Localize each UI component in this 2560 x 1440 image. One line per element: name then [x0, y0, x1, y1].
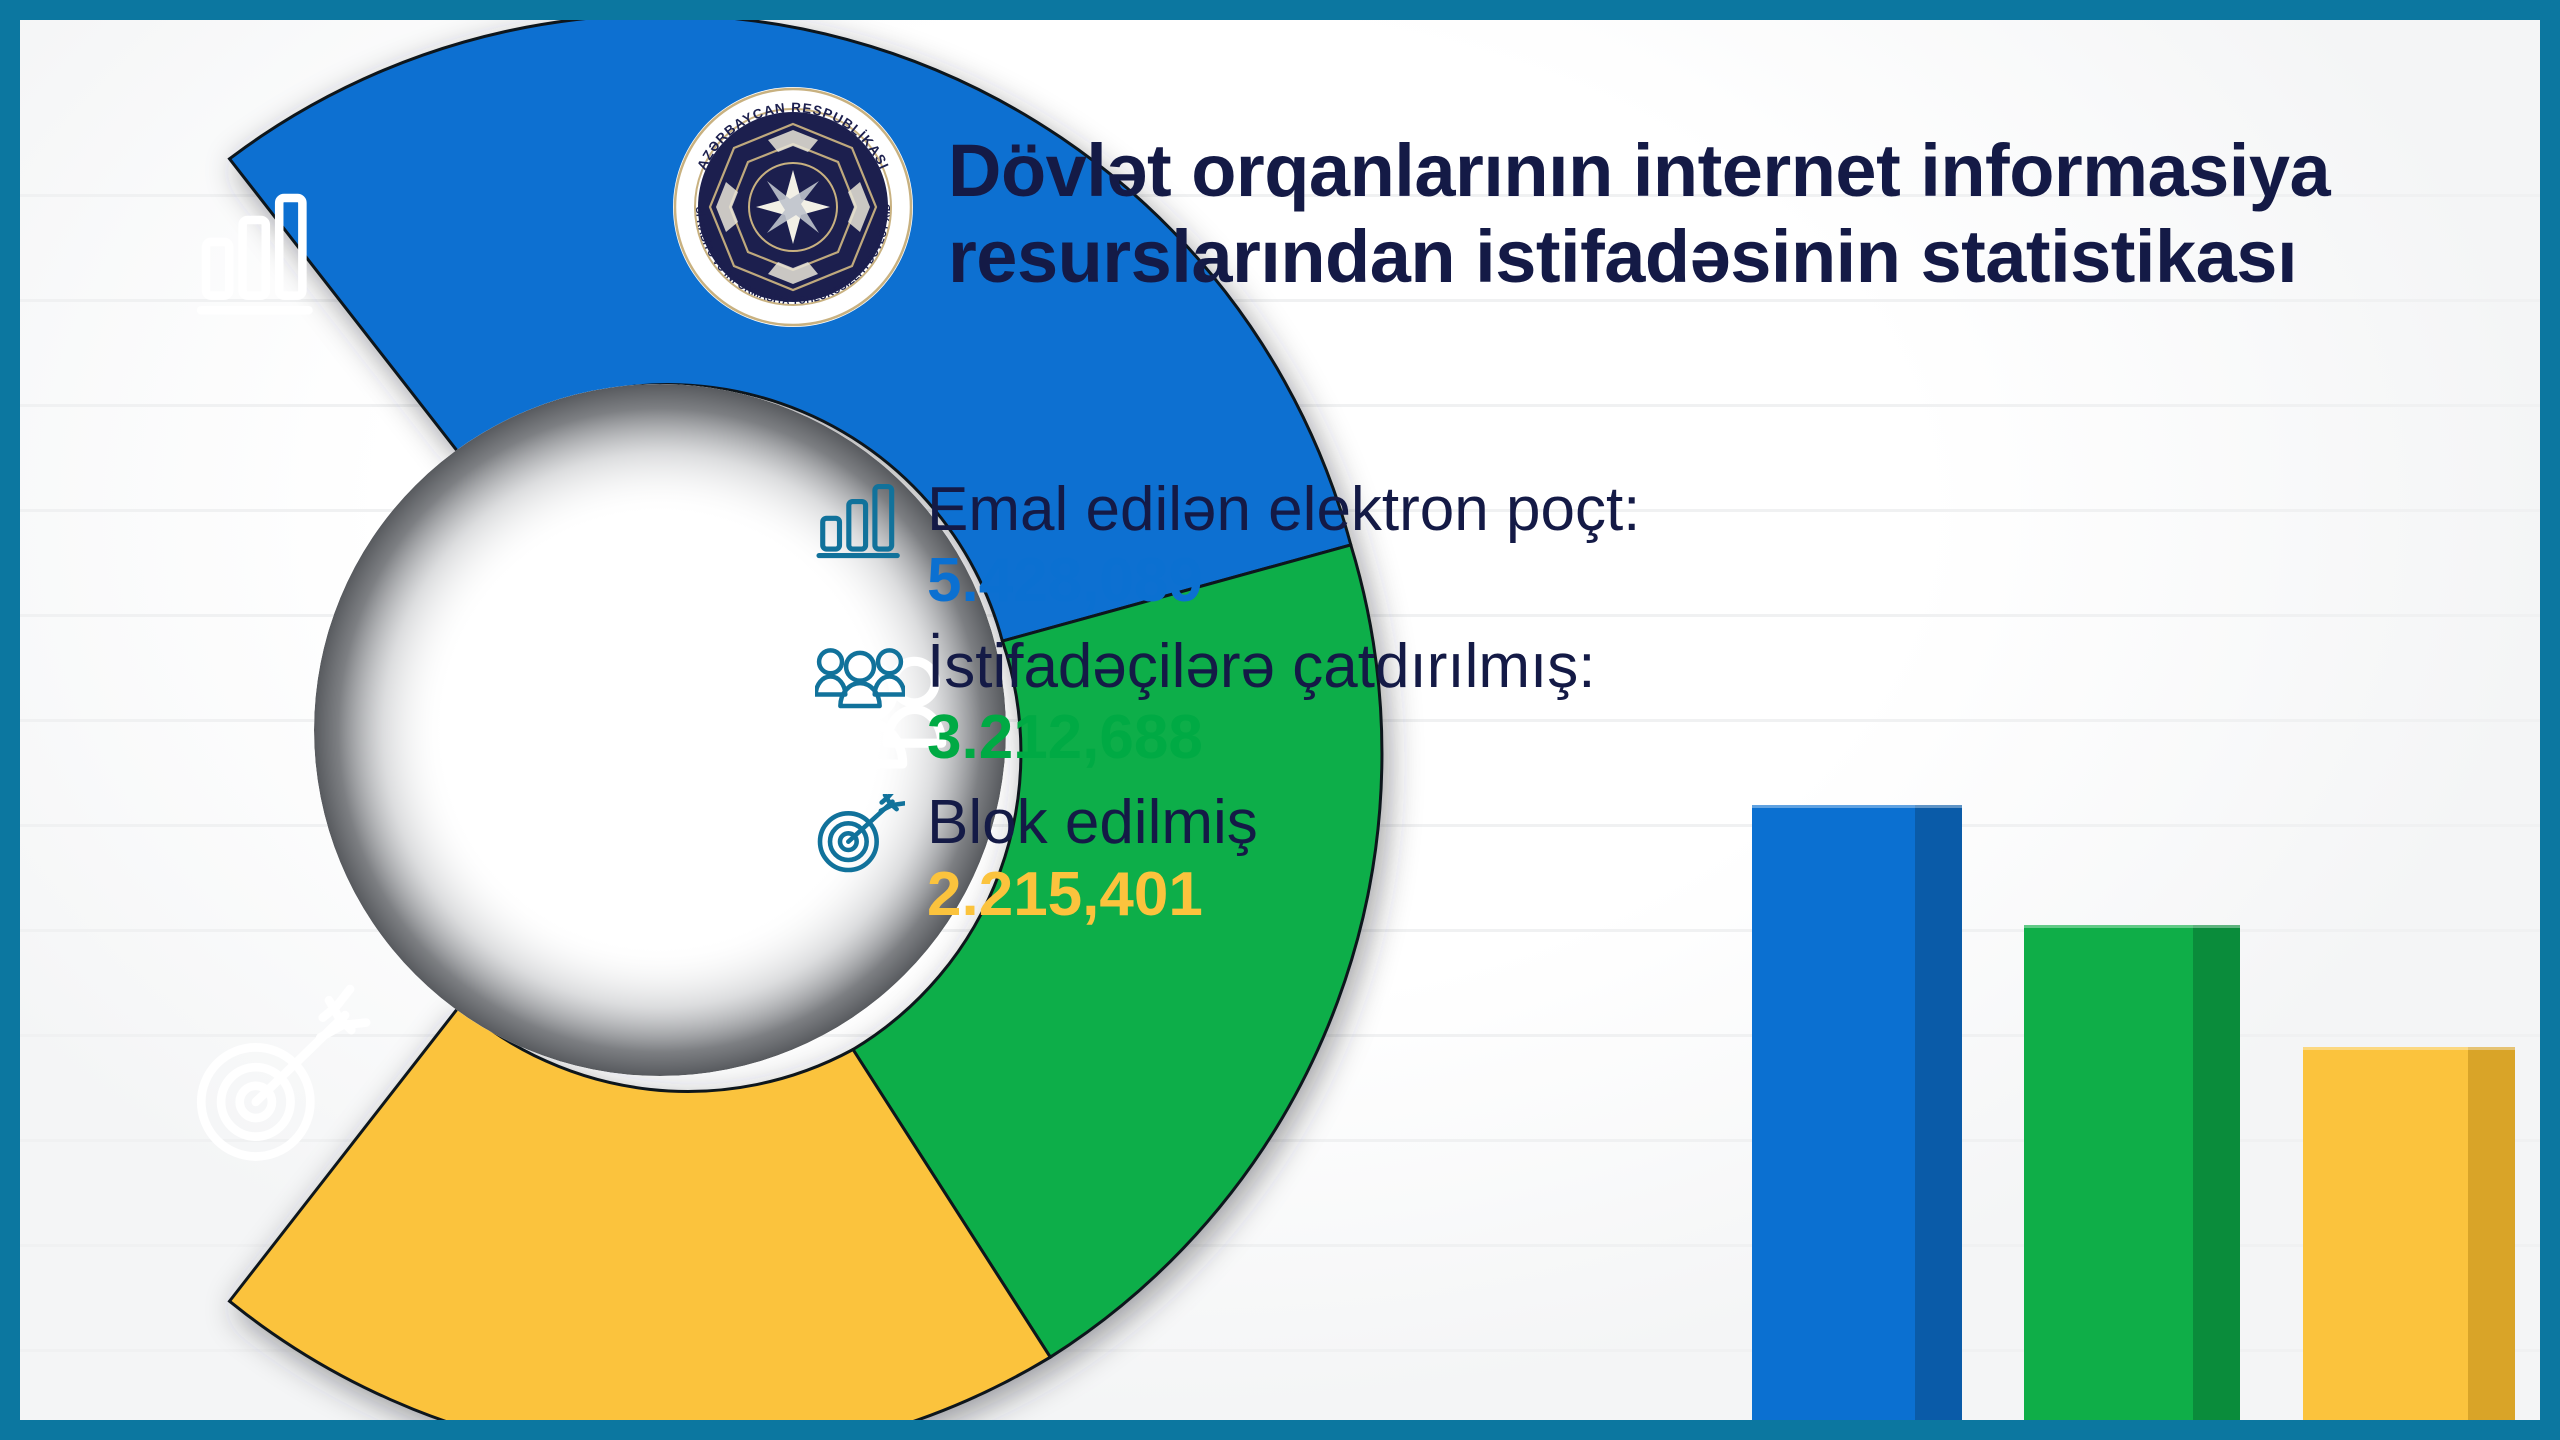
gridline	[20, 404, 2540, 407]
stat-value: 3.212,688	[927, 701, 1915, 774]
stat-text-block: İstifadəçilərə çatdırılmış: 3.212,688	[927, 632, 1915, 775]
bar-side	[2468, 1047, 2515, 1420]
bar-top-highlight	[2024, 925, 2240, 928]
stat-label: Blok edilmiş	[927, 788, 1915, 857]
gridline	[20, 1244, 2540, 1247]
bar-face	[2024, 925, 2193, 1420]
gridline	[20, 1034, 2540, 1037]
target-arrow-icon	[815, 794, 905, 876]
statistics-list: Emal edilən elektron poçt: 5.428,089	[815, 475, 1915, 945]
donut-bar-chart-icon	[201, 198, 308, 310]
stat-text-block: Emal edilən elektron poçt: 5.428,089	[927, 475, 1915, 618]
bar-chart-icon	[815, 481, 905, 563]
infographic-canvas: AZƏRBAYCAN RESPUBLİKASI XÜSUSİ RABİTƏ VƏ…	[20, 20, 2540, 1420]
stat-value: 2.215,401	[927, 858, 1915, 931]
title-line-1: Dövlət orqanlarının internet informasiya	[948, 128, 2448, 214]
bar-face	[2303, 1047, 2468, 1420]
stat-label: İstifadəçilərə çatdırılmış:	[927, 632, 1915, 701]
bar-side	[2193, 925, 2240, 1420]
organization-logo: AZƏRBAYCAN RESPUBLİKASI XÜSUSİ RABİTƏ VƏ…	[668, 82, 918, 332]
bar-blocked	[2303, 1047, 2515, 1420]
bar-delivered-users	[2024, 925, 2240, 1420]
stat-item-blocked: Blok edilmiş 2.215,401	[815, 788, 1915, 931]
donut-segment-blocked	[230, 1006, 1051, 1420]
bar-top-highlight	[2303, 1047, 2515, 1050]
stat-item-delivered-users: İstifadəçilərə çatdırılmış: 3.212,688	[815, 632, 1915, 775]
users-group-icon	[815, 638, 905, 720]
stat-text-block: Blok edilmiş 2.215,401	[927, 788, 1915, 931]
stat-label: Emal edilən elektron poçt:	[927, 475, 1915, 544]
bar-side	[1915, 805, 1962, 1420]
gridline	[20, 1139, 2540, 1142]
stat-item-email-processed: Emal edilən elektron poçt: 5.428,089	[815, 475, 1915, 618]
stat-value: 5.428,089	[927, 544, 1915, 617]
outer-frame: AZƏRBAYCAN RESPUBLİKASI XÜSUSİ RABİTƏ VƏ…	[0, 0, 2560, 1440]
donut-target-arrow-icon	[201, 989, 366, 1156]
title-line-2: resurslarından istifadəsinin statistikas…	[948, 214, 2448, 300]
page-title: Dövlət orqanlarının internet informasiya…	[948, 128, 2448, 300]
gridline	[20, 1349, 2540, 1352]
